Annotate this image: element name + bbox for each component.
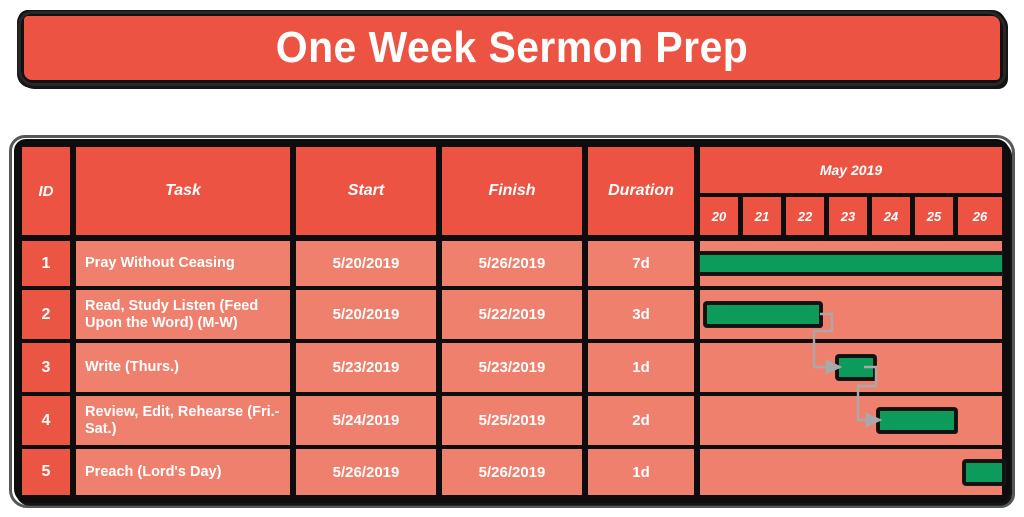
table-row: 3 <box>22 343 70 392</box>
column-header-duration: Duration <box>588 147 694 235</box>
timeline-day-25: 25 <box>915 197 953 235</box>
table-row: Pray Without Ceasing <box>76 241 290 286</box>
table-row: 5/23/2019 <box>442 343 582 392</box>
table-row: 5/22/2019 <box>442 290 582 339</box>
gantt-grid: ID Task Start Finish Duration May 2019 2… <box>14 139 1010 503</box>
table-row: 1d <box>588 343 694 392</box>
table-row: 7d <box>588 241 694 286</box>
timeline-day-26: 26 <box>958 197 1002 235</box>
gantt-table: ID Task Start Finish Duration May 2019 2… <box>14 139 1010 503</box>
gantt-track-row-5 <box>700 449 1002 495</box>
timeline-day-20: 20 <box>700 197 738 235</box>
title-banner: One Week Sermon Prep <box>18 10 1006 86</box>
table-row: 5/24/2019 <box>296 396 436 445</box>
column-header-start: Start <box>296 147 436 235</box>
table-row: Read, Study Listen (Feed Upon the Word) … <box>76 290 290 339</box>
timeline-day-24: 24 <box>872 197 910 235</box>
timeline-month-label: May 2019 <box>700 147 1002 193</box>
table-row: 5/26/2019 <box>442 449 582 495</box>
table-row: 3d <box>588 290 694 339</box>
gantt-bar-task-5[interactable] <box>963 460 1005 485</box>
table-row: 1d <box>588 449 694 495</box>
table-row: 4 <box>22 396 70 445</box>
table-row: 5/26/2019 <box>296 449 436 495</box>
column-header-task: Task <box>76 147 290 235</box>
gantt-bar-task-3[interactable] <box>836 355 876 380</box>
table-row: 5 <box>22 449 70 495</box>
gantt-bar-task-1[interactable] <box>700 252 1002 275</box>
table-row: Preach (Lord's Day) <box>76 449 290 495</box>
table-row: Write (Thurs.) <box>76 343 290 392</box>
table-row: Review, Edit, Rehearse (Fri.-Sat.) <box>76 396 290 445</box>
gantt-bar-task-4[interactable] <box>877 408 957 433</box>
timeline-day-22: 22 <box>786 197 824 235</box>
table-row: 1 <box>22 241 70 286</box>
table-row: 2 <box>22 290 70 339</box>
timeline-day-23: 23 <box>829 197 867 235</box>
table-row: 5/20/2019 <box>296 241 436 286</box>
table-row: 2d <box>588 396 694 445</box>
table-row: 5/25/2019 <box>442 396 582 445</box>
page-title: One Week Sermon Prep <box>276 23 748 73</box>
table-row: 5/20/2019 <box>296 290 436 339</box>
column-header-id: ID <box>22 147 70 235</box>
table-row: 5/26/2019 <box>442 241 582 286</box>
gantt-bar-task-2[interactable] <box>704 302 822 327</box>
timeline-day-21: 21 <box>743 197 781 235</box>
table-row: 5/23/2019 <box>296 343 436 392</box>
column-header-finish: Finish <box>442 147 582 235</box>
